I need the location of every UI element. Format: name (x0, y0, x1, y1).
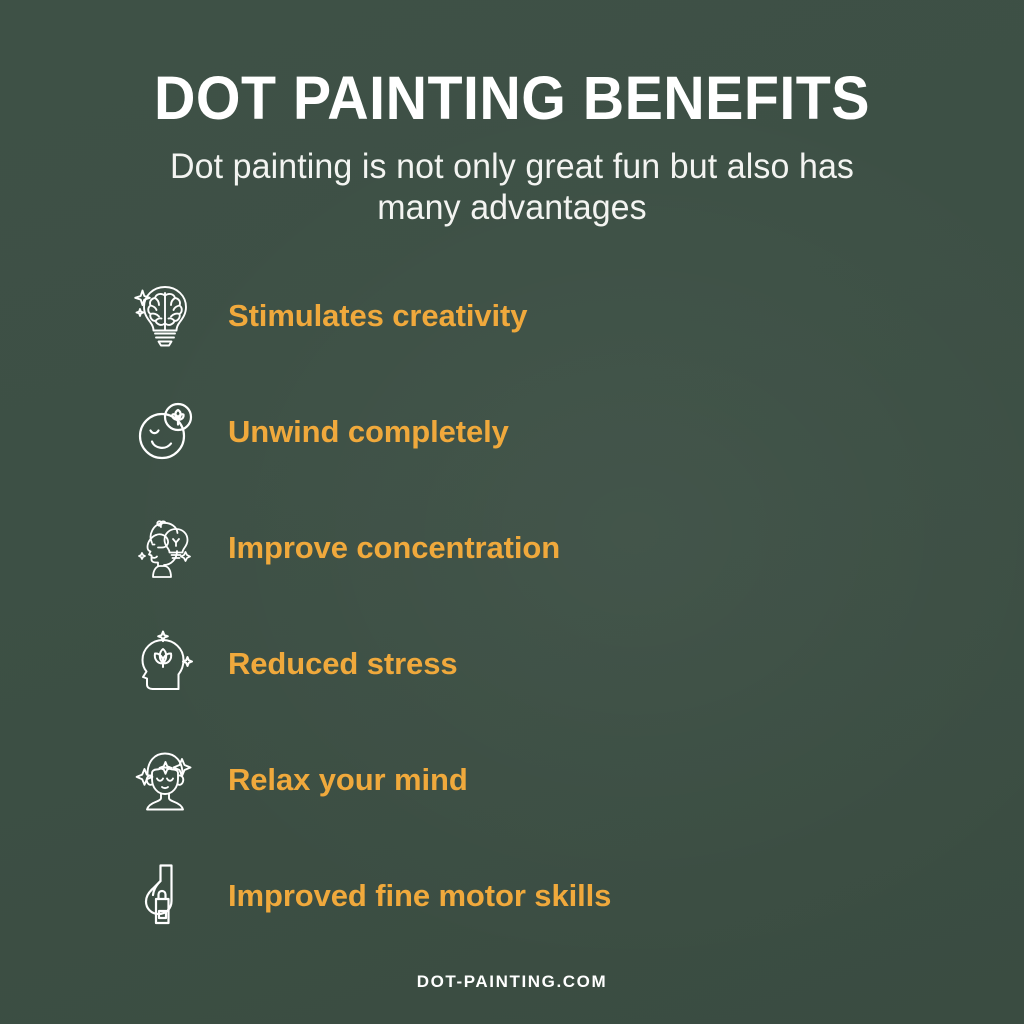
head-profile-lightbulb-icon (134, 513, 196, 583)
brain-lightbulb-icon (134, 281, 196, 351)
list-item-label: Stimulates creativity (228, 295, 527, 337)
list-item-label: Unwind completely (228, 411, 509, 453)
list-item: Stimulates creativity (0, 258, 1024, 374)
head-profile-lotus-icon (134, 629, 196, 699)
infographic-poster: DOT PAINTING BENEFITS Dot painting is no… (0, 0, 1024, 1024)
list-item: Relax your mind (0, 722, 1024, 838)
list-item-label: Relax your mind (228, 759, 468, 801)
benefits-list: Stimulates creativity (0, 258, 1024, 954)
footer-website[interactable]: DOT-PAINTING.COM (0, 972, 1024, 992)
page-subtitle: Dot painting is not only great fun but a… (163, 146, 861, 228)
list-item: Improve concentration (0, 490, 1024, 606)
list-item-label: Reduced stress (228, 643, 457, 685)
list-item: Reduced stress (0, 606, 1024, 722)
list-item-label: Improve concentration (228, 527, 560, 569)
list-item: Improved fine motor skills (0, 838, 1024, 954)
list-item-label: Improved fine motor skills (228, 875, 611, 917)
hand-holding-dotting-tool-icon (134, 861, 196, 931)
smiling-face-flower-icon (134, 397, 196, 467)
relaxed-face-sparkles-icon (134, 745, 196, 815)
list-item: Unwind completely (0, 374, 1024, 490)
page-title: DOT PAINTING BENEFITS (31, 66, 994, 130)
